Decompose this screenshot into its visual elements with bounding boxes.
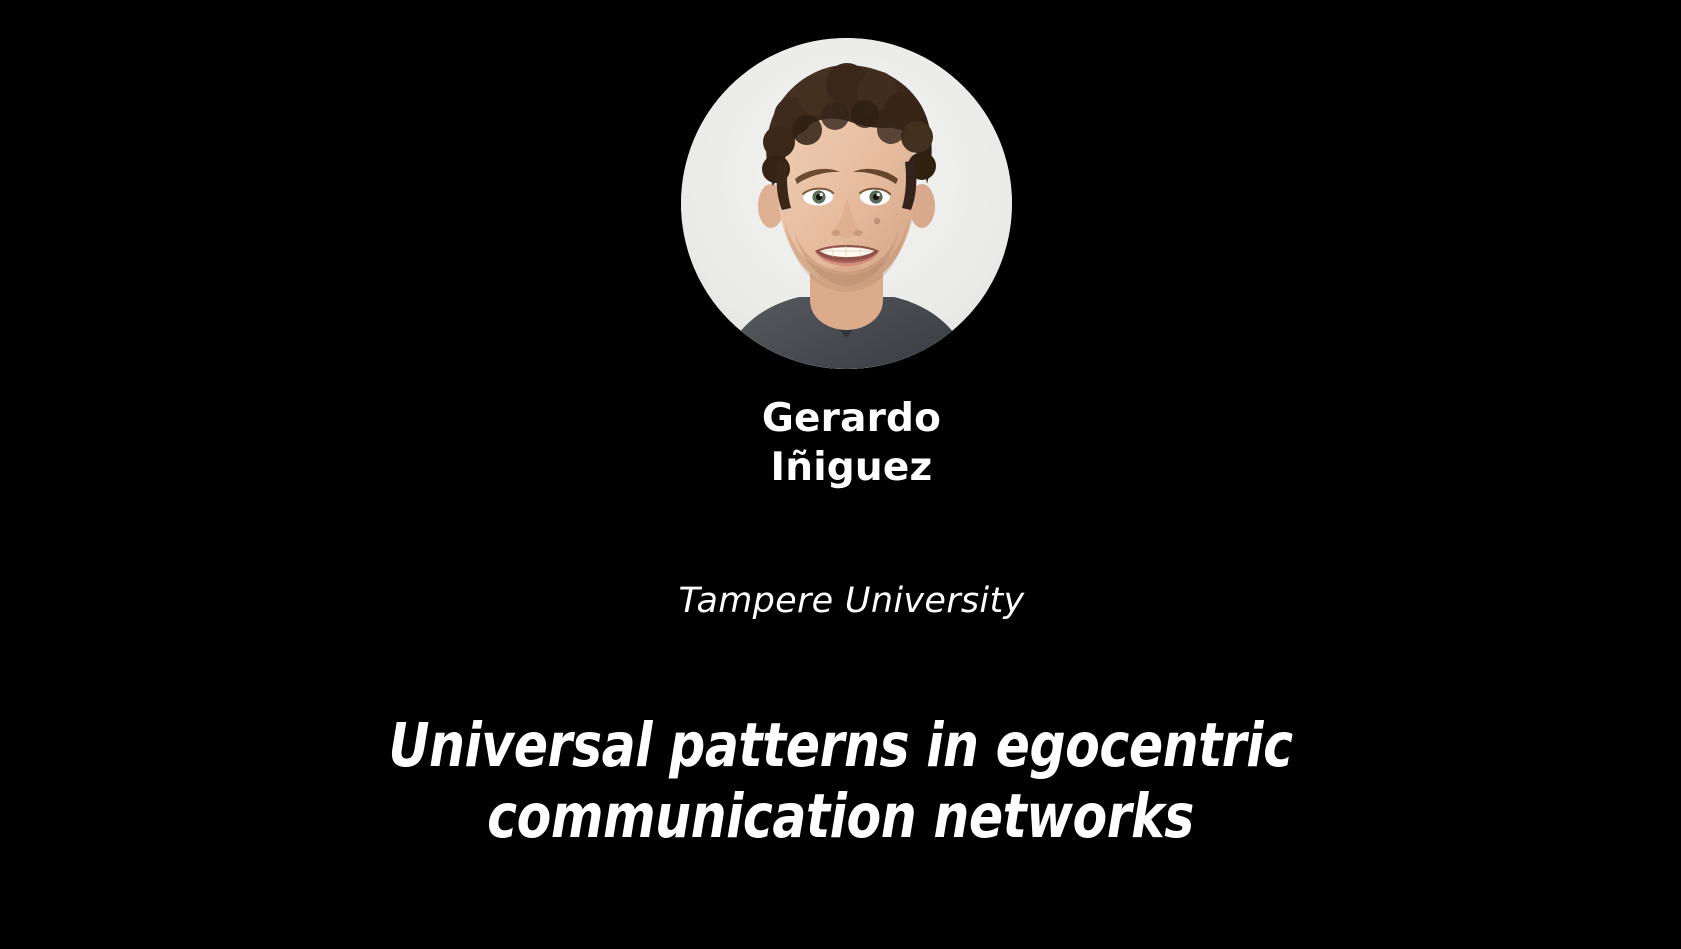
- presentation-slide: Gerardo Iñiguez Tampere University Unive…: [0, 0, 1681, 949]
- speaker-affiliation: Tampere University: [11, 578, 1681, 624]
- talk-title: Universal patterns in egocentric communi…: [67, 710, 1614, 852]
- speaker-name: Gerardo Iñiguez: [11, 394, 1681, 492]
- talk-title-line-2: communication networks: [67, 781, 1614, 852]
- portrait-photo-icon: [681, 38, 1012, 369]
- speaker-avatar: [681, 38, 1012, 369]
- talk-title-line-1: Universal patterns in egocentric: [67, 710, 1614, 781]
- speaker-name-line-1: Gerardo: [11, 394, 1681, 443]
- speaker-name-line-2: Iñiguez: [11, 443, 1681, 492]
